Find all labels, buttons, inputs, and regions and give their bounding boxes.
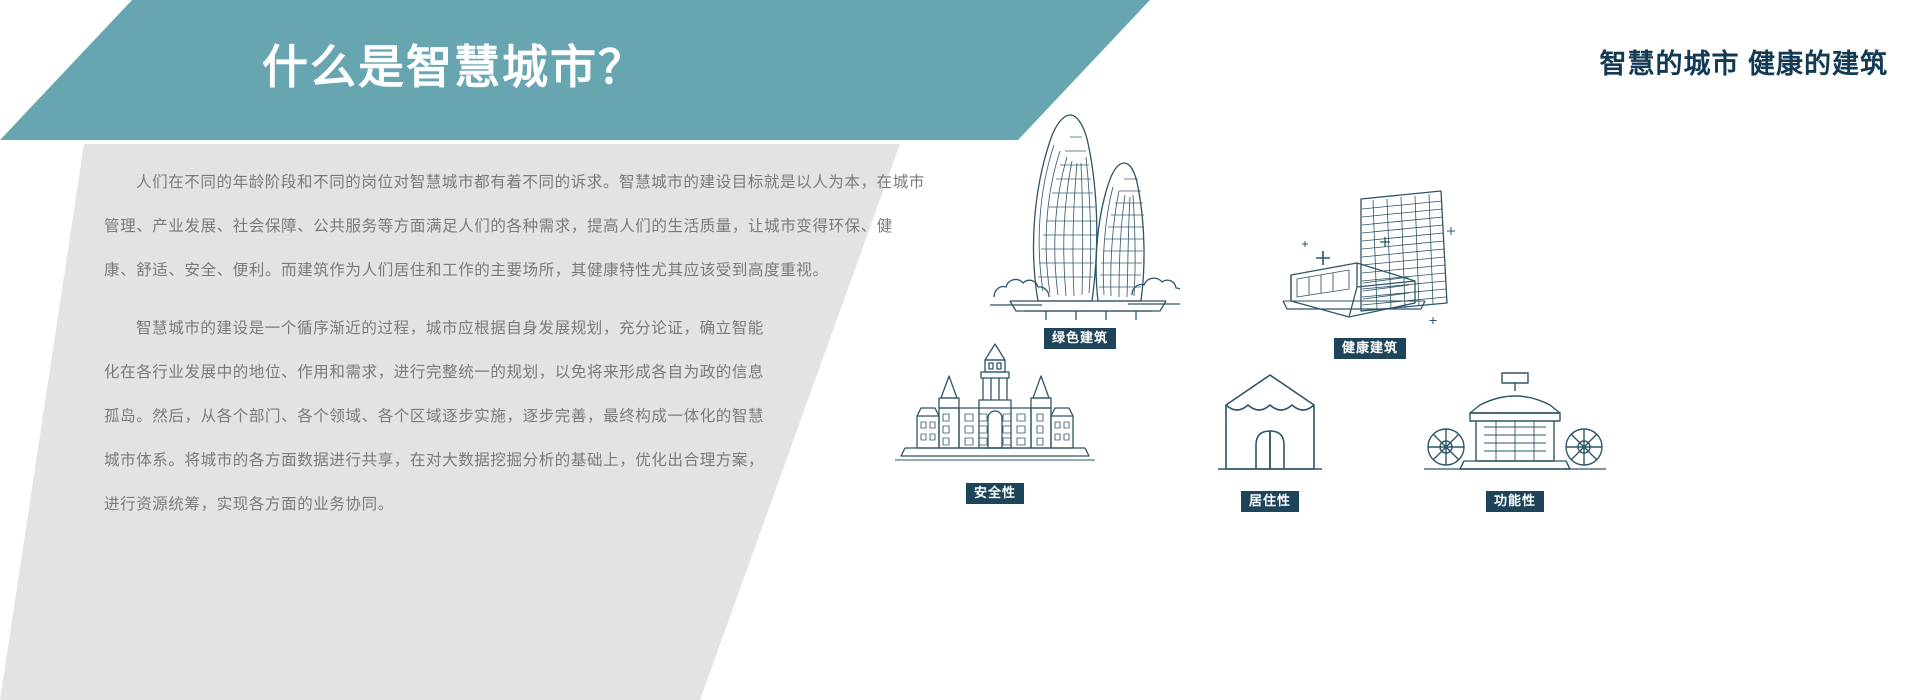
illustration-label-health-building: 健康建筑 [1334,338,1406,359]
illustration-label-livability: 居住性 [1241,491,1299,512]
header-tagline: 智慧的城市 健康的建筑 [1599,42,1888,81]
page-title: 什么是智慧城市？ [262,36,646,98]
paragraph-2-line-3: 孤岛。然后，从各个部门、各个领域、各个区域逐步实施，逐步完善，最终构成一体化的智… [104,406,864,428]
hospital-tower-icon [1265,185,1475,330]
paragraph-1-line-2: 管理、产业发展、社会保障、公共服务等方面满足人们的各种需求，提高人们的生活质量，… [104,216,864,238]
paragraph-2: 智慧城市的建设是一个循序渐近的过程，城市应根据自身发展规划，充分论证，确立智能 … [104,318,864,516]
paragraph-1: 人们在不同的年龄阶段和不同的岗位对智慧城市都有着不同的诉求。智慧城市的建设目标就… [104,172,864,282]
twin-towers-icon [980,105,1180,320]
paragraph-1-line-1: 人们在不同的年龄阶段和不同的岗位对智慧城市都有着不同的诉求。智慧城市的建设目标就… [104,172,864,194]
pavilion-icon [1420,365,1610,483]
illustration-label-safety: 安全性 [966,483,1024,504]
illustration-green-building: 绿色建筑 [950,105,1210,349]
body-text: 人们在不同的年龄阶段和不同的岗位对智慧城市都有着不同的诉求。智慧城市的建设目标就… [104,172,864,552]
paragraph-1-line-3: 康、舒适、安全、便利。而建筑作为人们居住和工作的主要场所，其健康特性尤其应该受到… [104,260,864,282]
castle-icon [845,340,1145,475]
paragraph-2-line-1: 智慧城市的建设是一个循序渐近的过程，城市应根据自身发展规划，充分论证，确立智能 [104,318,864,340]
illustration-functionality: 功能性 [1370,365,1660,512]
illustration-livability: 居住性 [1150,365,1390,512]
paragraph-2-line-2: 化在各行业发展中的地位、作用和需求，进行完整统一的规划，以免将来形成各自为政的信… [104,362,864,384]
illustration-health-building: 健康建筑 [1240,185,1500,359]
illustration-grid: 绿色建筑 [830,90,1920,650]
paragraph-2-line-5: 进行资源统筹，实现各方面的业务协同。 [104,494,864,516]
paragraph-2-line-4: 城市体系。将城市的各方面数据进行共享，在对大数据挖掘分析的基础上，优化出合理方案… [104,450,864,472]
illustration-safety: 安全性 [830,340,1160,504]
illustration-label-functionality: 功能性 [1486,491,1544,512]
house-shop-icon [1210,365,1330,483]
